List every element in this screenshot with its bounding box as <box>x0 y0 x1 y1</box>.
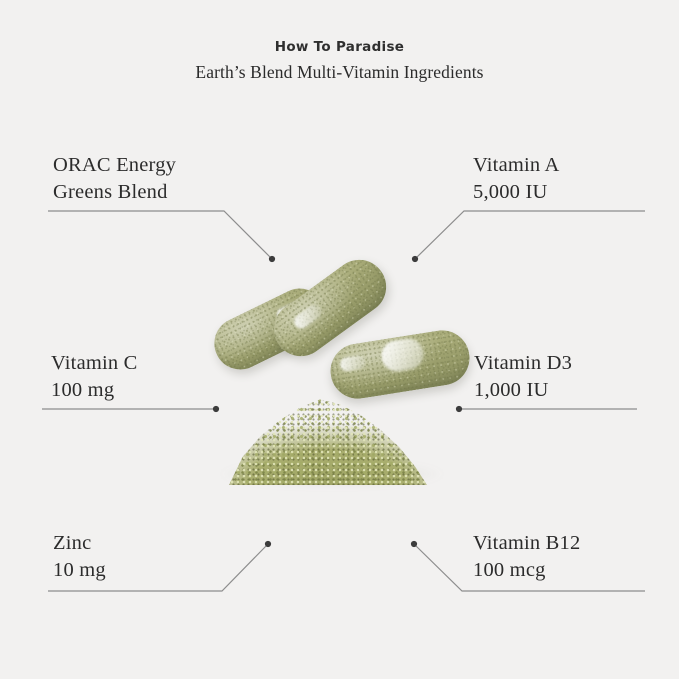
ingredients-infographic: How To Paradise Earth’s Blend Multi-Vita… <box>0 0 679 679</box>
callout-ingredient-name: Vitamin B12 <box>473 530 580 557</box>
callout-ingredient-name-line2: Greens Blend <box>53 179 176 206</box>
callout-ingredient-amount: 1,000 IU <box>474 377 572 404</box>
capsule-clear-cap <box>380 337 426 373</box>
header: How To Paradise Earth’s Blend Multi-Vita… <box>0 38 679 84</box>
capsule-highlight <box>340 355 367 373</box>
leader-dot-vitamin-b12 <box>411 541 417 547</box>
leader-line-orac <box>48 211 272 259</box>
callout-orac-energy-greens-blend: ORAC Energy Greens Blend <box>53 152 176 205</box>
callout-ingredient-name: Vitamin C <box>51 350 138 377</box>
callout-ingredient-amount: 100 mcg <box>473 557 580 584</box>
brand-title: How To Paradise <box>0 38 679 56</box>
leader-dot-orac <box>269 256 275 262</box>
callout-ingredient-name: Zinc <box>53 530 106 557</box>
leader-line-vitamin-a <box>415 211 645 259</box>
callout-vitamin-b12: Vitamin B12 100 mcg <box>473 530 580 583</box>
callout-ingredient-name: Vitamin A <box>473 152 560 179</box>
callout-ingredient-amount: 10 mg <box>53 557 106 584</box>
callout-zinc: Zinc 10 mg <box>53 530 106 583</box>
capsule-right <box>327 326 474 402</box>
product-image <box>205 275 470 490</box>
leader-dot-zinc <box>265 541 271 547</box>
callout-vitamin-c: Vitamin C 100 mg <box>51 350 138 403</box>
callout-vitamin-a: Vitamin A 5,000 IU <box>473 152 560 205</box>
capsule-highlight <box>292 302 325 331</box>
powder-pile <box>229 383 427 485</box>
leader-dot-vitamin-a <box>412 256 418 262</box>
page-subtitle: Earth’s Blend Multi-Vitamin Ingredients <box>0 60 679 84</box>
callout-ingredient-name: Vitamin D3 <box>474 350 572 377</box>
callout-ingredient-amount: 100 mg <box>51 377 138 404</box>
callout-ingredient-amount: 5,000 IU <box>473 179 560 206</box>
callout-ingredient-name: ORAC Energy <box>53 152 176 179</box>
callout-vitamin-d3: Vitamin D3 1,000 IU <box>474 350 572 403</box>
